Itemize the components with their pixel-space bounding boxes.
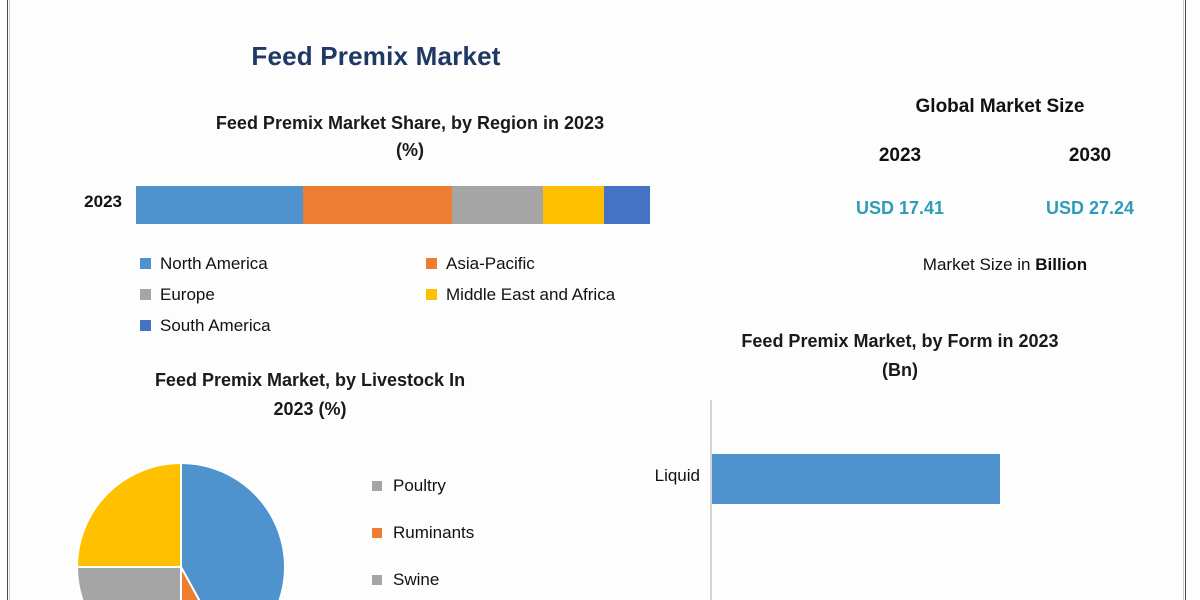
livestock-chart-title-line2: 2023 (%) bbox=[55, 395, 565, 424]
global-market-size-value-right: USD 27.24 bbox=[1025, 198, 1155, 219]
legend-item-asia-pacific: Asia-Pacific bbox=[426, 248, 615, 279]
form-chart-category-label: Liquid bbox=[600, 466, 700, 486]
global-market-size-value-left: USD 17.41 bbox=[835, 198, 965, 219]
form-chart-title-line1: Feed Premix Market, by Form in 2023 bbox=[610, 327, 1190, 356]
region-legend-column-right: Asia-Pacific Middle East and Africa bbox=[426, 248, 615, 310]
legend-swatch-icon-ruminants bbox=[372, 528, 382, 538]
region-stacked-bar bbox=[136, 186, 650, 224]
legend-item-poultry: Poultry bbox=[372, 462, 562, 509]
footnote-prefix: Market Size in bbox=[923, 255, 1035, 274]
legend-swatch-icon-south-america bbox=[140, 320, 151, 331]
legend-label-ruminants: Ruminants bbox=[393, 523, 474, 543]
top-artifact-text bbox=[962, 2, 1102, 18]
region-segment-south-america bbox=[604, 186, 650, 224]
legend-label-europe: Europe bbox=[160, 285, 215, 305]
pie-slice-group bbox=[77, 463, 285, 600]
region-segment-middle-east-africa bbox=[543, 186, 604, 224]
legend-swatch-icon-middle-east-and-africa bbox=[426, 289, 437, 300]
legend-label-swine: Swine bbox=[393, 570, 439, 590]
legend-swatch-icon-swine bbox=[372, 575, 382, 585]
legend-label-south-america: South America bbox=[160, 316, 271, 336]
global-market-size-footnote: Market Size in Billion bbox=[830, 255, 1180, 275]
pie-slice-poultry bbox=[181, 463, 285, 600]
global-market-size-title: Global Market Size bbox=[820, 96, 1180, 118]
legend-item-south-america: South America bbox=[140, 310, 271, 341]
frame-line-left bbox=[7, 0, 8, 600]
legend-item-ruminants: Ruminants bbox=[372, 509, 562, 556]
global-market-size-year-right: 2030 bbox=[1025, 145, 1155, 167]
pie-slice-other bbox=[77, 463, 181, 567]
region-segment-asia-pacific bbox=[303, 186, 452, 224]
legend-item-north-america: North America bbox=[140, 248, 271, 279]
region-chart-title: Feed Premix Market Share, by Region in 2… bbox=[60, 110, 760, 164]
form-chart-title-line2: (Bn) bbox=[610, 356, 1190, 385]
livestock-pie-svg bbox=[76, 462, 286, 600]
form-chart-bar-liquid bbox=[712, 454, 1000, 504]
legend-label-asia-pacific: Asia-Pacific bbox=[446, 254, 535, 274]
frame-line-right bbox=[1185, 0, 1186, 600]
infographic-slide: Feed Premix Market Feed Premix Market Sh… bbox=[0, 0, 1200, 600]
legend-item-swine: Swine bbox=[372, 556, 562, 600]
livestock-chart-title-line1: Feed Premix Market, by Livestock In bbox=[55, 366, 565, 395]
region-segment-north-america bbox=[136, 186, 303, 224]
legend-item-middle-east-and-africa: Middle East and Africa bbox=[426, 279, 615, 310]
footnote-unit: Billion bbox=[1035, 255, 1087, 274]
legend-swatch-icon-europe bbox=[140, 289, 151, 300]
legend-swatch-icon-asia-pacific bbox=[426, 258, 437, 269]
global-market-size-year-left: 2023 bbox=[835, 145, 965, 167]
pie-slice-swine bbox=[77, 567, 181, 600]
legend-label-middle-east-and-africa: Middle East and Africa bbox=[446, 285, 615, 305]
form-chart-title: Feed Premix Market, by Form in 2023 (Bn) bbox=[610, 327, 1190, 385]
legend-swatch-icon-north-america bbox=[140, 258, 151, 269]
livestock-pie-chart bbox=[76, 462, 286, 600]
legend-swatch-icon-poultry bbox=[372, 481, 382, 491]
region-chart-title-line1: Feed Premix Market Share, by Region in 2… bbox=[60, 110, 760, 137]
region-axis-year-label: 2023 bbox=[52, 192, 122, 212]
legend-label-north-america: North America bbox=[160, 254, 268, 274]
livestock-chart-title: Feed Premix Market, by Livestock In 2023… bbox=[55, 366, 565, 424]
page-title: Feed Premix Market bbox=[0, 41, 752, 72]
legend-item-europe: Europe bbox=[140, 279, 271, 310]
region-legend-column-left: North America Europe South America bbox=[140, 248, 271, 341]
legend-label-poultry: Poultry bbox=[393, 476, 446, 496]
frame-line-left-inner bbox=[9, 0, 10, 600]
livestock-legend: Poultry Ruminants Swine bbox=[372, 462, 562, 600]
region-legend: North America Europe South America Asia-… bbox=[140, 248, 700, 338]
region-chart-title-line2: (%) bbox=[60, 137, 760, 164]
frame-line-right-inner bbox=[1183, 0, 1184, 600]
region-segment-europe bbox=[452, 186, 543, 224]
